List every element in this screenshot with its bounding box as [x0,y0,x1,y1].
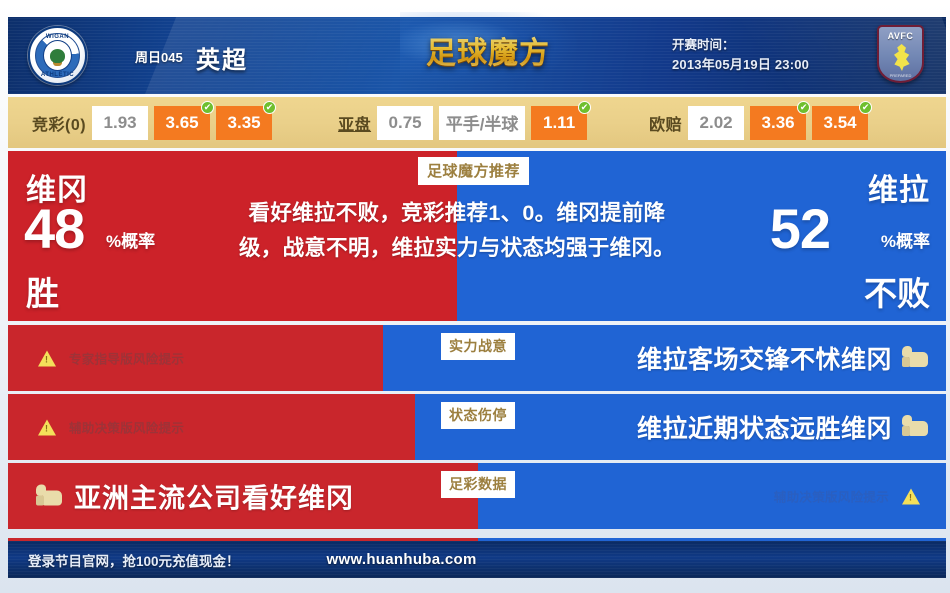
insight-claim-text: 维拉近期状态远胜维冈 [637,409,892,445]
recommendation-tag: 足球魔方推荐 [418,157,529,185]
wigan-athletic-crest-icon: WIGAN ATHLETIC [28,26,87,85]
crest-tree-icon [50,49,65,63]
aston-villa-crest-icon: AVFC PREPARED [877,25,924,83]
odds-value-cell[interactable]: 3.54✔ [812,106,868,140]
footer-bar: 登录节目官网，抢100元充值现金！ www.huanhuba.com [8,541,946,578]
risk-warning-note: 辅助决策版风险提示 [774,487,920,506]
insight-row: 亚洲主流公司看好维冈辅助决策版风险提示足彩数据 [8,463,946,529]
away-outcome-label: 不败 [864,267,930,315]
risk-warning-note: 辅助决策版风险提示 [38,418,184,437]
odds-group-title: 亚盘 [338,111,371,135]
kickoff-time: 2013年05月19日 23:00 [672,55,809,74]
insight-claim-left: 亚洲主流公司看好维冈 [36,477,354,516]
risk-warning-text: 辅助决策版风险提示 [69,418,184,437]
warning-icon [902,488,920,504]
odds-group-title: 竞彩(0) [32,111,86,135]
odds-value-cell[interactable]: 1.11✔ [531,106,587,140]
insight-claim-right: 维拉客场交锋不怵维冈 [637,340,928,376]
brand-logo: 足球魔方 [418,26,558,70]
insight-row: 专家指导版风险提示维拉客场交锋不怵维冈实力战意 [8,325,946,391]
crest-base-text: PREPARED [879,73,922,78]
risk-warning-note: 专家指导版风险提示 [38,349,184,368]
crest-bottom-text: ATHLETIC [30,72,85,78]
away-team-name: 维拉 [868,165,930,209]
warning-icon [38,350,56,366]
odds-group-3: 欧赔2.023.36✔3.54✔ [649,106,868,140]
check-icon: ✔ [201,101,214,114]
crest-avfc-text: AVFC [879,31,922,41]
home-outcome-label: 胜 [26,267,59,315]
footer-website-url[interactable]: www.huanhuba.com [327,551,477,568]
logo-text: 足球魔方 [418,28,558,72]
odds-value-cell[interactable]: 0.75 [377,106,433,140]
kickoff-info: 开赛时间： 2013年05月19日 23:00 [672,36,809,74]
home-probability-value: 48 [24,201,84,257]
insight-row-tag: 状态伤停 [441,402,515,429]
odds-value-cell[interactable]: 3.65✔ [154,106,210,140]
insight-claim-text: 维拉客场交锋不怵维冈 [637,340,892,376]
insight-row: 辅助决策版风险提示维拉近期状态远胜维冈状态伤停 [8,394,946,460]
crest-top-text: WIGAN [30,34,85,40]
risk-warning-text: 辅助决策版风险提示 [774,487,889,506]
recommendation-text: 看好维拉不败，竞彩推荐1、0。维冈提前降级，战意不明，维拉实力与状态均强于维冈。 [237,196,677,266]
insight-rows: 专家指导版风险提示维拉客场交锋不怵维冈实力战意辅助决策版风险提示维拉近期状态远胜… [8,325,946,532]
odds-group-1: 竞彩(0)1.933.65✔3.35✔ [32,106,272,140]
insight-row-left: 专家指导版风险提示 [8,325,383,391]
thumbs-up-icon [36,484,62,508]
kickoff-label: 开赛时间： [672,36,809,55]
crest-inner [43,40,72,71]
odds-group-title: 欧赔 [649,111,682,135]
check-icon: ✔ [797,101,810,114]
odds-value-cell[interactable]: 3.36✔ [750,106,806,140]
odds-group-2: 亚盘0.75平手/半球1.11✔ [338,106,587,140]
odds-value-cell[interactable]: 平手/半球 [439,106,525,140]
insight-row-tag: 足彩数据 [441,471,515,498]
odds-value-cell[interactable]: 2.02 [688,106,744,140]
insight-row-left: 辅助决策版风险提示 [8,394,415,460]
insight-claim-right: 维拉近期状态远胜维冈 [637,409,928,445]
broadcast-graphic: WIGAN ATHLETIC 周日045 英超 足球魔方 开赛时间： 2013年… [0,0,950,593]
match-number: 周日045 [135,47,183,66]
away-probability-value: 52 [770,201,830,257]
thumbs-up-icon [902,346,928,370]
insight-row-tag: 实力战意 [441,333,515,360]
away-probability-unit: %概率 [881,227,930,252]
check-icon: ✔ [578,101,591,114]
insight-row-right: 辅助决策版风险提示 [478,463,946,529]
odds-value-cell[interactable]: 1.93 [92,106,148,140]
league-name: 英超 [196,40,248,75]
warning-icon [38,419,56,435]
check-icon: ✔ [263,101,276,114]
home-probability-unit: %概率 [106,227,155,252]
risk-warning-text: 专家指导版风险提示 [69,349,184,368]
odds-value-cell[interactable]: 3.35✔ [216,106,272,140]
crest-lion-icon [892,44,912,71]
footer-promo-text: 登录节目官网，抢100元充值现金！ [28,550,240,570]
check-icon: ✔ [859,101,872,114]
insight-row-left: 亚洲主流公司看好维冈 [8,463,478,529]
insight-claim-text: 亚洲主流公司看好维冈 [74,477,354,516]
thumbs-up-icon [902,415,928,439]
odds-bar: 竞彩(0)1.933.65✔3.35✔亚盘0.75平手/半球1.11✔欧赔2.0… [8,97,946,148]
